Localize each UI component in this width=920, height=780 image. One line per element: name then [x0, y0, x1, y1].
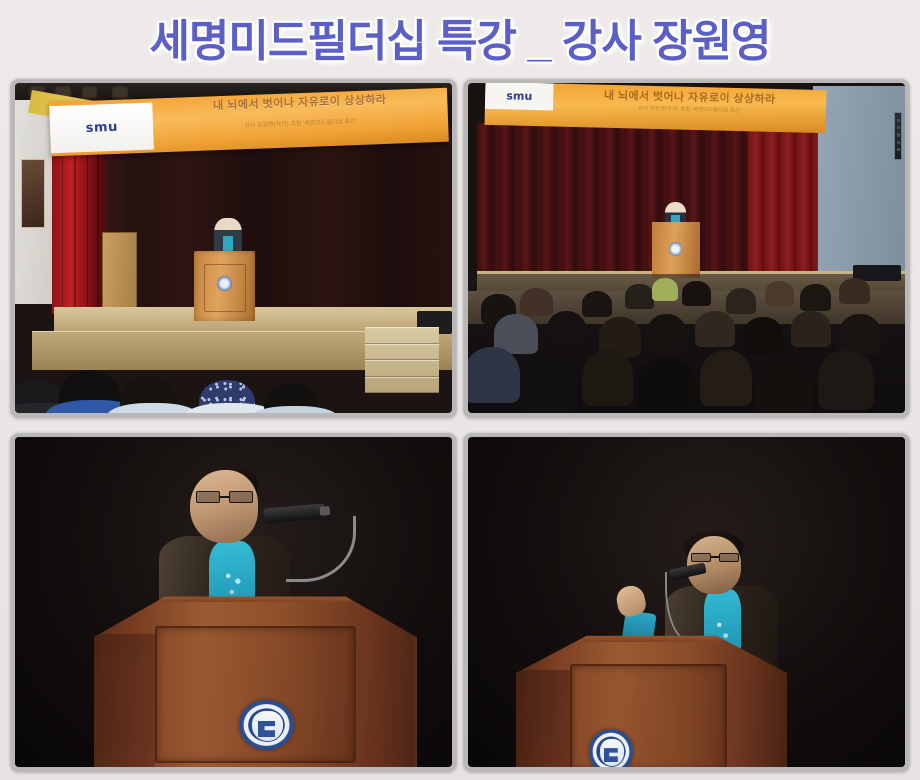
photo-frame-4[interactable] — [463, 432, 910, 772]
university-seal-icon — [239, 700, 294, 750]
audience-head — [756, 357, 813, 413]
audience-head — [800, 284, 831, 310]
podium — [194, 251, 255, 320]
step-riser — [365, 327, 439, 393]
smu-logo: smu — [485, 83, 554, 110]
smu-logo-text: smu — [507, 89, 533, 103]
audience-head — [582, 350, 634, 406]
stage-door — [102, 232, 137, 318]
event-banner: smu 내 뇌에서 벗어나 자유로이 상상하라 강사 장원영(작가) 초청 '세… — [485, 83, 827, 133]
speaker-shirt — [223, 236, 233, 251]
photo-auditorium-audience-view[interactable]: smu 내 뇌에서 벗어나 자유로이 상상하라 강사 장원영(작가) 초청 '세… — [468, 83, 905, 413]
audience-head — [468, 347, 520, 403]
podium-side-panel — [516, 670, 570, 767]
banner-subline: 강사 장원영(작가) 초청 '세명미드필더십 특강' — [157, 116, 443, 134]
university-seal-icon — [669, 242, 682, 257]
photo-auditorium-stage-wide[interactable]: smu 내 뇌에서 벗어나 자유로이 상상하라 강사 장원영(작가) 초청 '세… — [15, 83, 452, 413]
university-seal-icon — [589, 729, 632, 767]
audience-head — [839, 314, 881, 354]
podium — [652, 222, 700, 278]
smu-logo: smu — [49, 102, 154, 153]
audience-head — [743, 317, 782, 353]
ceiling-speaker-icon — [111, 85, 128, 100]
photo-frame-1[interactable]: smu 내 뇌에서 벗어나 자유로이 상상하라 강사 장원영(작가) 초청 '세… — [10, 78, 457, 418]
photo-frame-2[interactable]: smu 내 뇌에서 벗어나 자유로이 상상하라 강사 장원영(작가) 초청 '세… — [463, 78, 910, 418]
photo-frame-3[interactable] — [10, 432, 457, 772]
photo-speaker-closeup[interactable] — [15, 437, 452, 767]
photo-speaker-gesturing[interactable] — [468, 437, 905, 767]
audience-head — [647, 314, 686, 350]
university-seal-icon — [217, 276, 232, 291]
wall-speaker-icon — [894, 112, 902, 160]
side-wall — [813, 86, 905, 271]
audience-head — [625, 284, 653, 309]
audience-head — [765, 281, 793, 306]
audience-head — [682, 281, 710, 306]
photo-gallery-grid: smu 내 뇌에서 벗어나 자유로이 상상하라 강사 장원영(작가) 초청 '세… — [10, 78, 910, 772]
audience-head — [818, 350, 875, 409]
eyeglasses-icon — [691, 553, 739, 562]
audience-head — [839, 278, 870, 304]
podium-side-panel — [94, 634, 155, 767]
audience-head — [700, 350, 752, 406]
wall-artwork — [21, 159, 45, 228]
audience-head — [547, 311, 586, 347]
audience-head — [695, 311, 734, 347]
podium — [94, 586, 417, 768]
audience-head-cap — [652, 278, 678, 301]
audience-head — [638, 357, 695, 413]
audience-head — [520, 288, 553, 316]
tshirt-print — [221, 565, 245, 601]
stage-curtain-right — [748, 123, 818, 278]
speaker-head — [190, 470, 258, 543]
audience-head — [726, 288, 757, 314]
smu-logo-text: smu — [85, 120, 118, 136]
eyeglasses-icon — [196, 491, 253, 502]
audience-head — [791, 311, 830, 347]
page-title: 세명미드필더십 특강 _ 강사 장원영 — [0, 6, 920, 68]
audience-head — [582, 291, 613, 317]
ceiling-speaker-icon — [81, 85, 98, 100]
audience-head — [520, 354, 577, 413]
